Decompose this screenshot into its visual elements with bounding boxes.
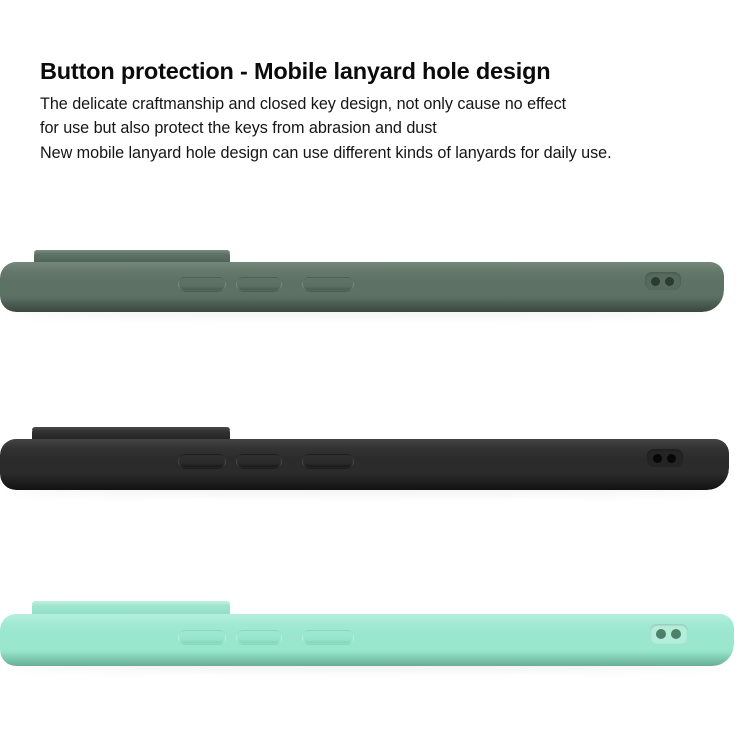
button-cover-face bbox=[237, 455, 281, 467]
button-cover-face bbox=[179, 278, 225, 290]
camera-bump-highlight bbox=[32, 427, 230, 430]
body-line-1: The delicate craftmanship and closed key… bbox=[40, 92, 730, 117]
button-cover-face bbox=[237, 278, 281, 290]
body-line-2: for use but also protect the keys from a… bbox=[40, 116, 730, 141]
button-cover-face bbox=[303, 455, 353, 467]
copy-block: Button protection - Mobile lanyard hole … bbox=[40, 58, 730, 166]
lanyard-hole-recess bbox=[645, 272, 681, 290]
button-cover-face bbox=[179, 631, 225, 643]
case-bottom-shadow bbox=[0, 652, 734, 666]
volume-down-button-cover bbox=[236, 630, 282, 645]
lanyard-hole-left bbox=[651, 277, 660, 286]
body-line-3: New mobile lanyard hole design can use d… bbox=[40, 141, 730, 166]
case-body bbox=[0, 614, 734, 666]
button-cover-face bbox=[303, 631, 353, 643]
product-feature-page: Button protection - Mobile lanyard hole … bbox=[0, 0, 750, 750]
case-bottom-shadow bbox=[0, 476, 729, 490]
camera-bump-highlight bbox=[34, 250, 230, 253]
case-bottom-shadow bbox=[0, 298, 724, 312]
lanyard-hole-right bbox=[671, 629, 681, 639]
case-top-rim-highlight bbox=[0, 262, 724, 271]
case-top-rim-highlight bbox=[0, 614, 734, 623]
lanyard-hole-left bbox=[653, 454, 662, 463]
lanyard-hole-right bbox=[667, 454, 676, 463]
power-button-cover bbox=[302, 630, 354, 645]
volume-up-button-cover bbox=[178, 630, 226, 645]
power-button-cover bbox=[302, 277, 354, 292]
product-image-dark-green-case bbox=[0, 240, 750, 350]
volume-up-button-cover bbox=[178, 277, 226, 292]
button-cover-face bbox=[179, 455, 225, 467]
lanyard-hole-recess bbox=[647, 449, 683, 467]
lanyard-hole-right bbox=[665, 277, 674, 286]
case-body bbox=[0, 262, 724, 312]
lanyard-hole-recess bbox=[650, 624, 688, 644]
volume-down-button-cover bbox=[236, 454, 282, 469]
case-top-rim-highlight bbox=[0, 439, 729, 448]
button-cover-face bbox=[303, 278, 353, 290]
product-image-mint-green-case bbox=[0, 588, 750, 698]
power-button-cover bbox=[302, 454, 354, 469]
page-title: Button protection - Mobile lanyard hole … bbox=[40, 58, 730, 86]
volume-down-button-cover bbox=[236, 277, 282, 292]
case-body bbox=[0, 439, 729, 490]
camera-bump-highlight bbox=[32, 601, 230, 604]
product-image-black-case bbox=[0, 415, 750, 525]
button-cover-face bbox=[237, 631, 281, 643]
volume-up-button-cover bbox=[178, 454, 226, 469]
lanyard-hole-left bbox=[656, 629, 666, 639]
